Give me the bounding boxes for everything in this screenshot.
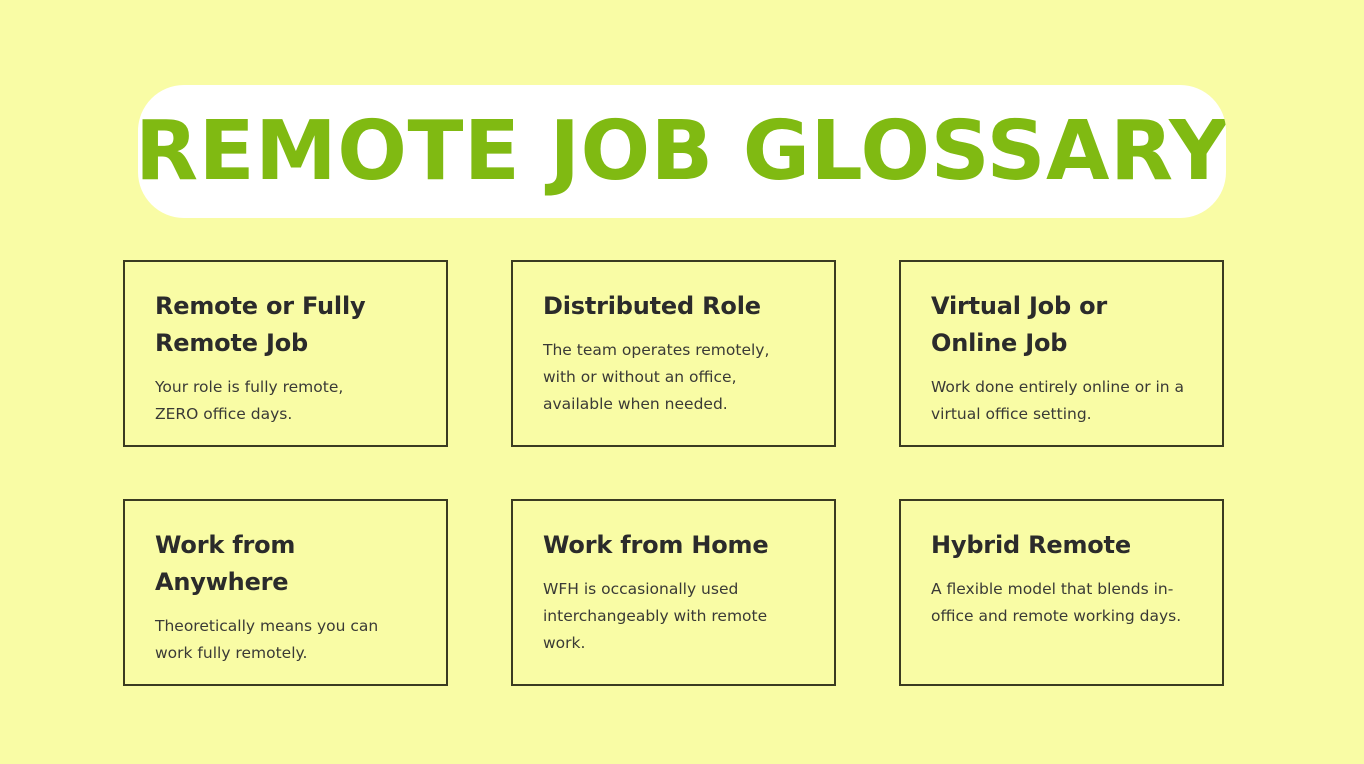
glossary-card: Distributed Role The team operates remot… bbox=[511, 260, 836, 447]
slide-root: REMOTE JOB GLOSSARY Remote or Fully Remo… bbox=[0, 0, 1364, 764]
card-title: Virtual Job or Online Job bbox=[931, 288, 1131, 362]
card-body: WFH is occasionally used interchangeably… bbox=[543, 576, 805, 657]
card-title: Work from Home bbox=[543, 527, 768, 564]
card-body: The team operates remotely, with or with… bbox=[543, 337, 801, 418]
glossary-card: Virtual Job or Online Job Work done enti… bbox=[899, 260, 1224, 447]
title-banner: REMOTE JOB GLOSSARY bbox=[138, 85, 1226, 218]
card-title: Work from Anywhere bbox=[155, 527, 345, 601]
card-body: Theoretically means you can work fully r… bbox=[155, 613, 380, 667]
card-title: Distributed Role bbox=[543, 288, 761, 325]
card-body: Your role is fully remote, ZERO office d… bbox=[155, 374, 385, 428]
glossary-card: Hybrid Remote A flexible model that blen… bbox=[899, 499, 1224, 686]
glossary-card: Work from Home WFH is occasionally used … bbox=[511, 499, 836, 686]
page-title: REMOTE JOB GLOSSARY bbox=[138, 111, 1226, 193]
card-title: Remote or Fully Remote Job bbox=[155, 288, 370, 362]
glossary-card-grid: Remote or Fully Remote Job Your role is … bbox=[123, 260, 1225, 686]
card-title: Hybrid Remote bbox=[931, 527, 1131, 564]
glossary-card: Remote or Fully Remote Job Your role is … bbox=[123, 260, 448, 447]
card-body: A flexible model that blends in-office a… bbox=[931, 576, 1196, 630]
glossary-card: Work from Anywhere Theoretically means y… bbox=[123, 499, 448, 686]
card-body: Work done entirely online or in a virtua… bbox=[931, 374, 1186, 428]
